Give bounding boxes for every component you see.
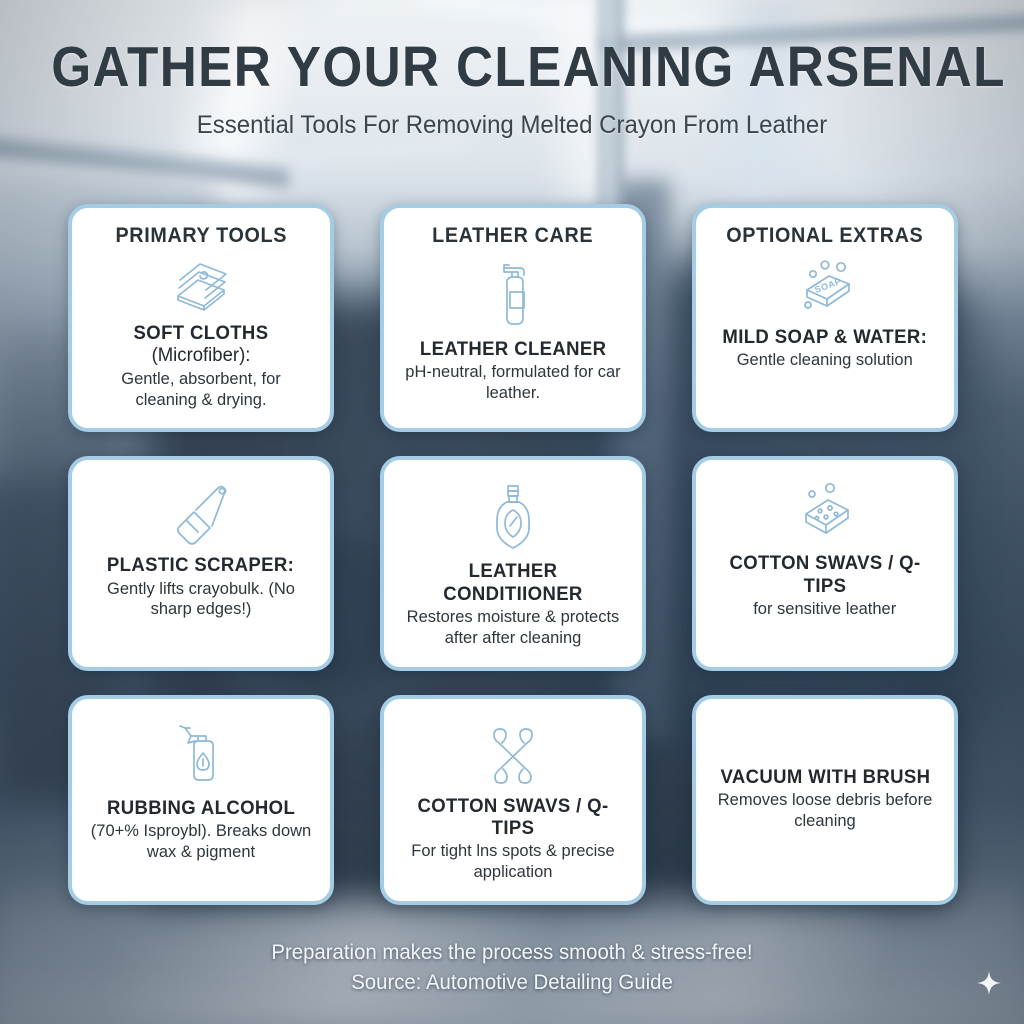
card-optional-extras[interactable]: OPTIONAL EXTRAS SOAP MILD SOAP & WATER: … [692, 204, 958, 432]
card-term: COTTON SWAVS / Q-TIPS [404, 795, 623, 840]
plastic-scraper-icon [166, 480, 236, 546]
card-plastic-scraper[interactable]: PLASTIC SCRAPER: Gently lifts crayobulk.… [68, 456, 334, 670]
card-term: RUBBING ALCOHOL [107, 797, 295, 819]
card-rubbing-alcohol[interactable]: RUBBING ALCOHOL (70+% Isproybl). Breaks … [68, 695, 334, 905]
card-term: MILD SOAP & WATER: [723, 326, 928, 348]
card-term-bold: COTTON SWAVS / Q-TIPS [729, 552, 920, 596]
card-term-bold: VACUUM WITH BRUSH [720, 766, 930, 788]
footer-tagline: Preparation makes the process smooth & s… [15, 938, 1008, 968]
card-grid: PRIMARY TOOLS SOFT CLOTHS (Microfiber): … [68, 204, 958, 905]
conditioner-bottle-shield-icon [486, 480, 540, 552]
card-description: For tight lns spots & precise applicatio… [401, 841, 624, 882]
crossed-cotton-swabs-icon [482, 719, 544, 787]
card-description: Gently lifts crayobulk. (No sharp edges!… [89, 579, 312, 620]
card-description: Gentle, absorbent, for cleaning & drying… [89, 369, 312, 410]
card-term: COTTON SWAVS / Q-TIPS [716, 552, 935, 597]
card-term-normal: (Microfiber): [152, 344, 251, 366]
card-vacuum-with-brush[interactable]: VACUUM WITH BRUSH Removes loose debris b… [692, 695, 958, 905]
card-term-bold: SOFT CLOTHS [134, 322, 269, 344]
card-heading: LEATHER CARE [432, 224, 593, 248]
card-cotton-swabs-sensitive[interactable]: COTTON SWAVS / Q-TIPS for sensitive leat… [692, 456, 958, 670]
card-term-bold: LEATHER CONDITIIONER [443, 560, 582, 604]
footer: Preparation makes the process smooth & s… [0, 938, 1024, 999]
card-heading: OPTIONAL EXTRAS [726, 224, 923, 248]
card-leather-care[interactable]: LEATHER CARE LEATHER CLEANER pH-neutral,… [380, 204, 646, 432]
card-description: Removes loose debris before cleaning [713, 790, 936, 831]
card-term: PLASTIC SCRAPER: [107, 554, 294, 576]
card-cotton-swabs-precise[interactable]: COTTON SWAVS / Q-TIPS For tight lns spot… [380, 695, 646, 905]
page-title: GATHER YOUR CLEANING ARSENAL [51, 38, 973, 98]
sponge-bubbles-icon [790, 480, 860, 544]
card-heading: PRIMARY TOOLS [115, 224, 287, 248]
sparkle-icon [976, 970, 1002, 996]
card-term-bold: COTTON SWAVS / Q-TIPS [417, 795, 608, 839]
card-term: LEATHER CLEANER [420, 338, 606, 360]
stacked-cloths-icon [168, 256, 234, 314]
card-description: for sensitive leather [754, 599, 897, 620]
card-description: pH-neutral, formulated for car leather. [401, 362, 624, 403]
card-term-bold: RUBBING ALCOHOL [107, 797, 295, 819]
card-term-bold: LEATHER CLEANER [420, 338, 606, 360]
footer-source: Source: Automotive Detailing Guide [15, 968, 1008, 998]
card-term: LEATHER CONDITIIONER [404, 560, 623, 605]
infographic-canvas: GATHER YOUR CLEANING ARSENAL Essential T… [0, 0, 1024, 1024]
card-term-bold: PLASTIC SCRAPER: [107, 554, 294, 576]
spray-bottle-icon [172, 719, 230, 789]
pump-bottle-icon [485, 256, 541, 330]
card-primary-tools[interactable]: PRIMARY TOOLS SOFT CLOTHS (Microfiber): … [68, 204, 334, 432]
card-term: VACUUM WITH BRUSH [720, 766, 930, 788]
card-term: SOFT CLOTHS (Microfiber): [92, 322, 311, 367]
soap-bar-icon: SOAP [789, 256, 861, 318]
card-description: Restores moisture & protects after after… [401, 607, 624, 648]
card-term-bold: MILD SOAP & WATER: [723, 326, 928, 348]
card-description: (70+% Isproybl). Breaks down wax & pigme… [89, 821, 312, 862]
background-light-strip-secondary [250, 140, 470, 165]
page-subtitle: Essential Tools For Removing Melted Cray… [20, 111, 1003, 140]
header: GATHER YOUR CLEANING ARSENAL Essential T… [0, 38, 1024, 140]
card-description: Gentle cleaning solution [737, 350, 913, 371]
card-leather-conditioner[interactable]: LEATHER CONDITIIONER Restores moisture &… [380, 456, 646, 670]
